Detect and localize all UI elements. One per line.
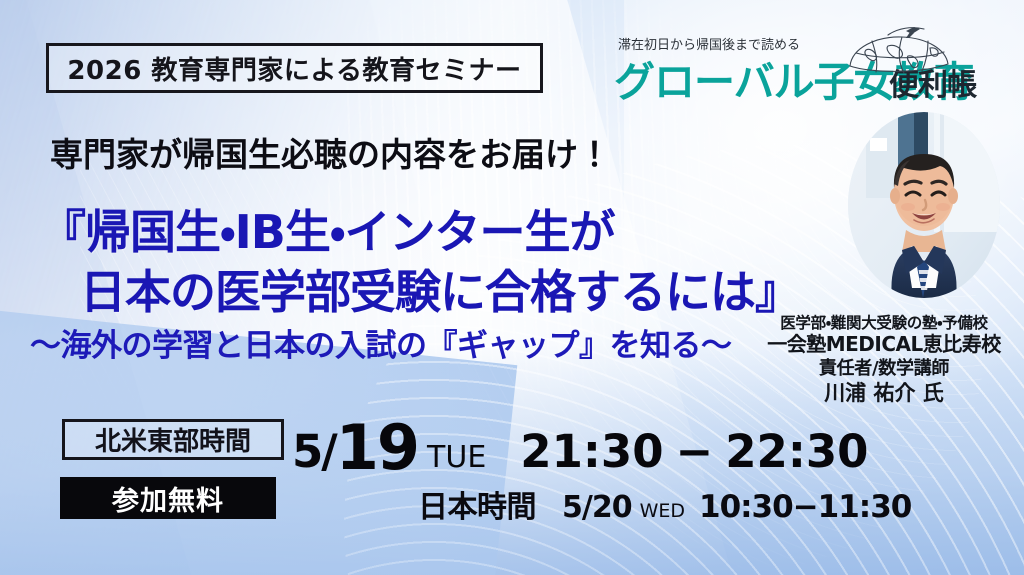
seminar-poster: 2026 教育専門家による教育セミナー 滞在初日から帰国後まで読める グローバル… xyxy=(0,0,1024,575)
event-day-of-week: TUE xyxy=(427,440,486,475)
seminar-banner-label: 2026 教育専門家による教育セミナー xyxy=(67,50,521,87)
lead-text: 専門家が帰国生必聴の内容をお届け！ xyxy=(50,128,611,176)
speaker-school: 一会塾MEDICAL恵比寿校 xyxy=(744,333,1024,356)
speaker-photo xyxy=(848,112,1000,298)
speaker-info: 医学部・難関大受験の塾・予備校 一会塾MEDICAL恵比寿校 責任者/数学講師 … xyxy=(744,314,1024,405)
event-end-time: 22:30 xyxy=(725,425,868,478)
free-admission-label: 参加無料 xyxy=(112,479,224,518)
primary-datetime: 5/ 19 TUE 21:30 − 22:30 xyxy=(292,409,869,482)
speaker-role: 責任者/数学講師 xyxy=(744,358,1024,379)
speaker-name: 川浦 祐介 氏 xyxy=(744,381,1024,406)
japan-time-day-of-week: WED xyxy=(640,500,685,522)
free-admission-badge: 参加無料 xyxy=(60,477,276,519)
globe-airplane-icon xyxy=(836,26,960,78)
japan-time-label: 日本時間 xyxy=(418,482,536,526)
seminar-banner: 2026 教育専門家による教育セミナー xyxy=(46,43,543,93)
subtitle-text: 〜海外の学習と日本の入試の『ギャップ』を知る〜 xyxy=(30,320,732,365)
event-month: 5/ xyxy=(292,425,336,478)
japan-time-range: 10:30−11:30 xyxy=(699,489,911,525)
title-line-1: 『帰国生・IB生・インター生が xyxy=(40,196,614,262)
brand-logo: 滞在初日から帰国後まで読める グローバル子女教育 便利帳 xyxy=(600,30,1008,102)
event-start-time: 21:30 xyxy=(520,425,663,478)
speaker-org-type: 医学部・難関大受験の塾・予備校 xyxy=(744,314,1024,332)
timezone-label: 北米東部時間 xyxy=(95,421,251,458)
timezone-badge: 北米東部時間 xyxy=(62,419,284,460)
event-day: 19 xyxy=(336,411,418,484)
japan-time-date: 5/20 xyxy=(562,490,632,525)
speaker-portrait-illustration xyxy=(848,112,1000,298)
title-line-2: 日本の医学部受験に合格するには』 xyxy=(80,256,800,322)
japan-time-row: 日本時間 5/20 WED 10:30−11:30 xyxy=(418,482,911,526)
time-range-dash: − xyxy=(676,425,714,478)
